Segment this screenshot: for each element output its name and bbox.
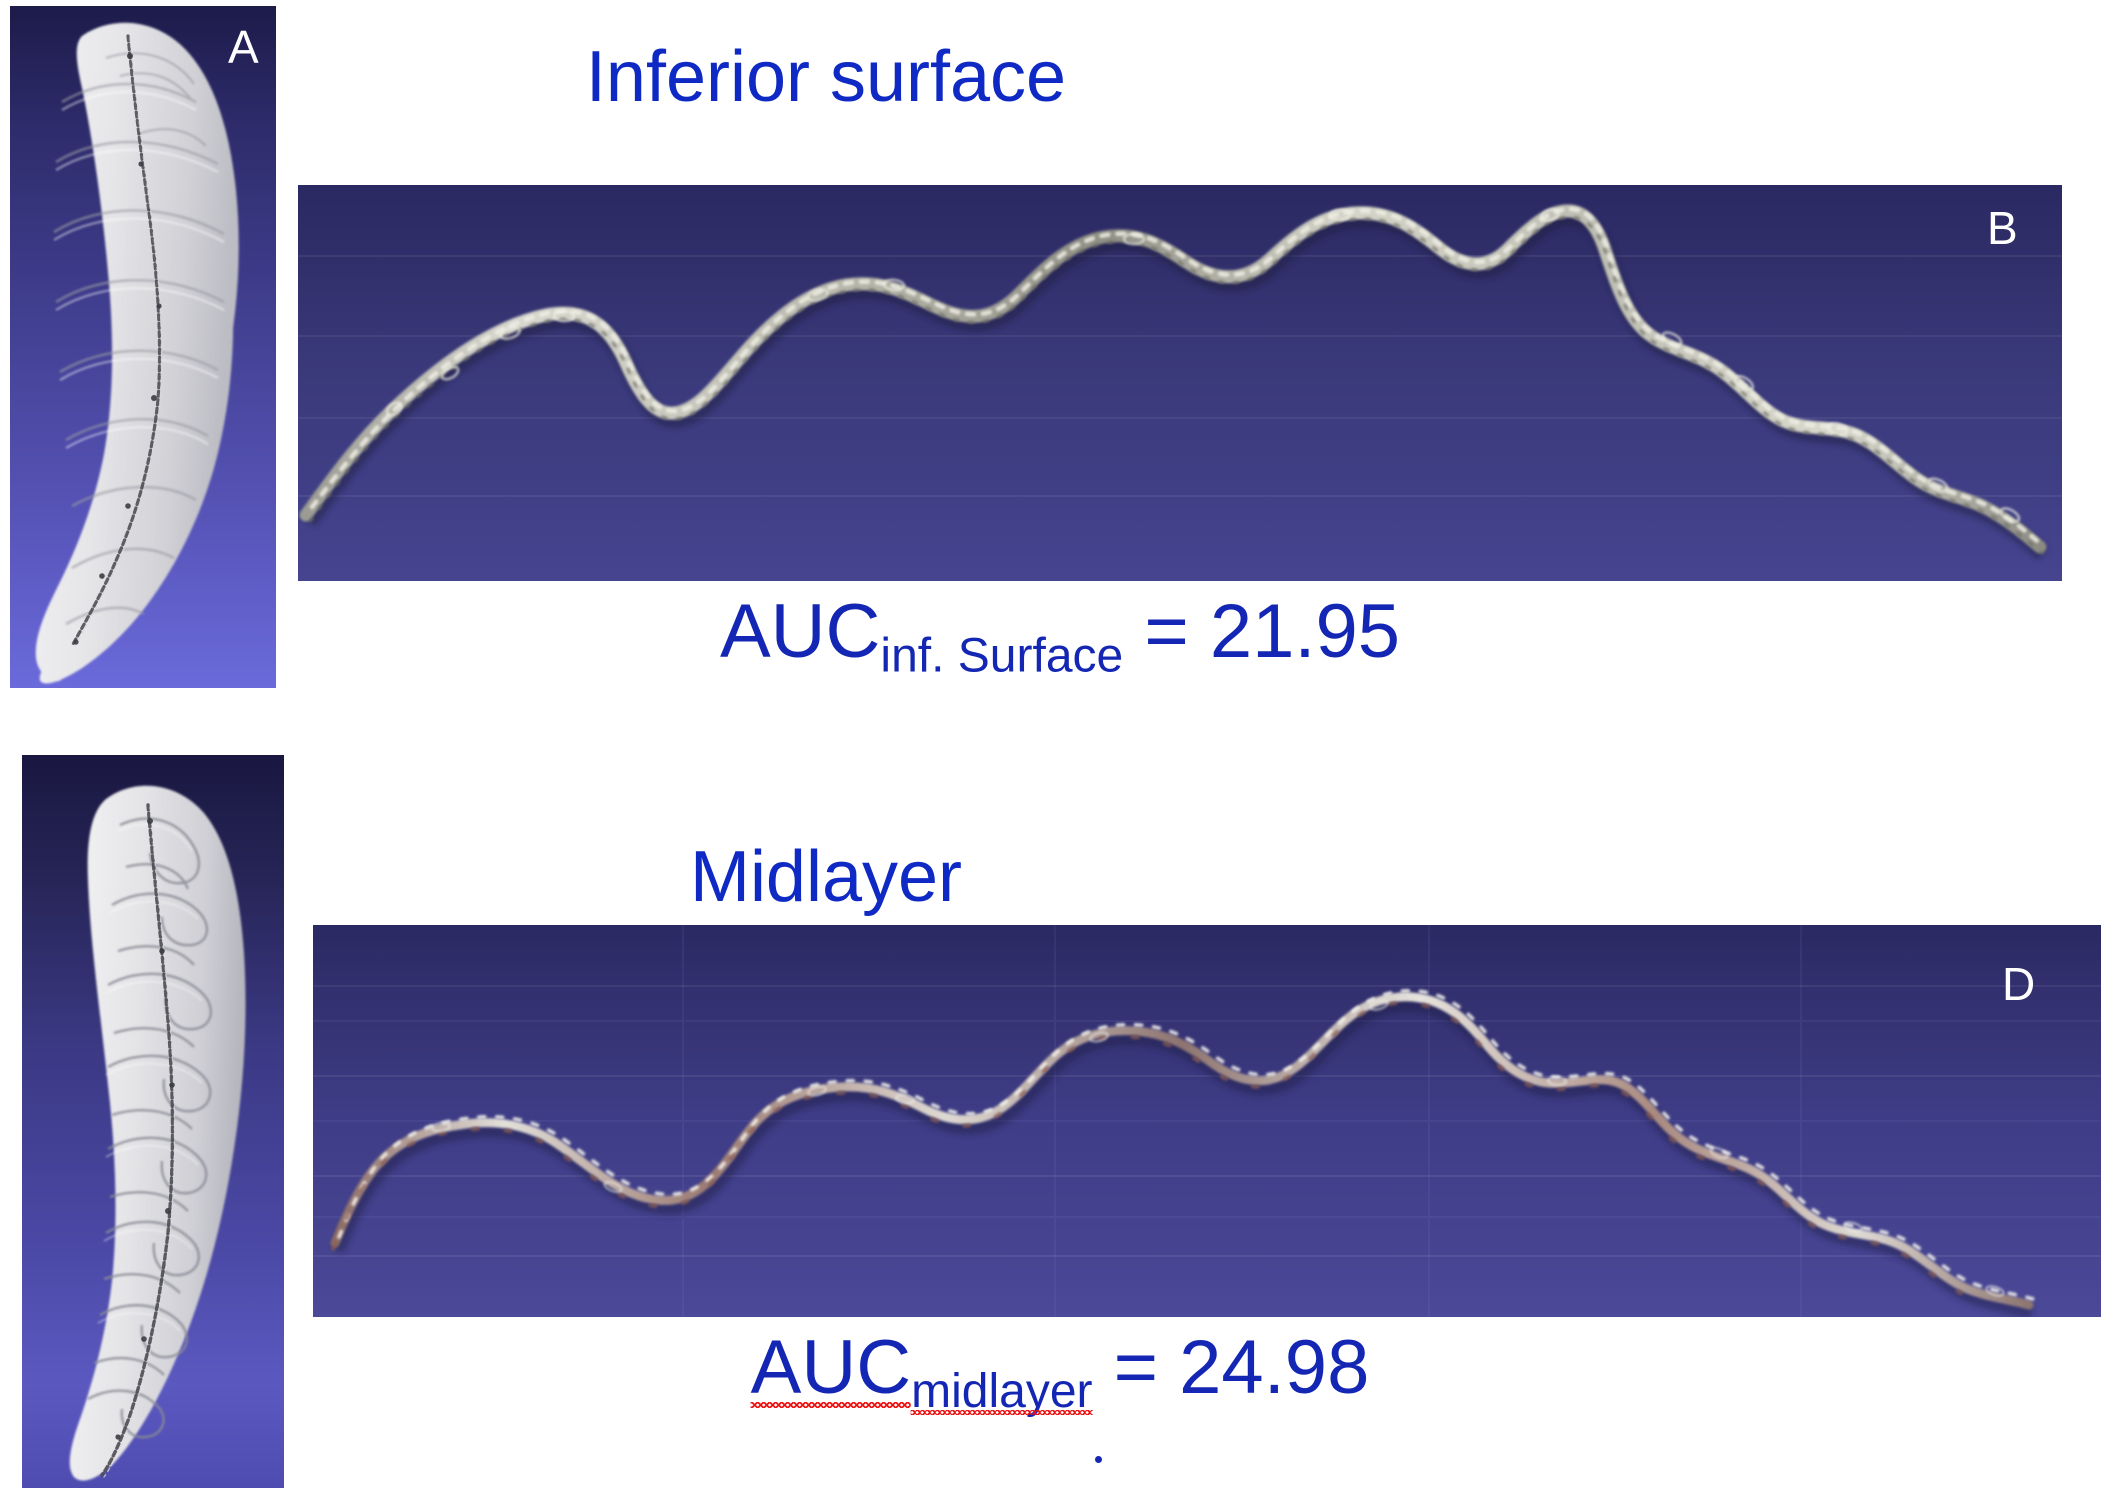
panel-letter-b: B	[1987, 205, 2018, 251]
panel-a-inferior-surface-render: A	[10, 6, 276, 688]
panel-d-midlayer-profile: D	[313, 925, 2101, 1317]
panel-c-midlayer-render: C	[22, 755, 284, 1488]
spellcheck-caret-dot	[1095, 1456, 1102, 1463]
panel-a-graphic	[10, 6, 276, 688]
auc-inferior-value: 21.95	[1210, 589, 1400, 674]
figure-root: A	[0, 0, 2112, 1490]
auc-inferior-subscript: inf. Surface	[880, 629, 1123, 682]
panel-b-graphic	[298, 185, 2062, 581]
panel-c-graphic	[22, 755, 284, 1488]
auc-inferior-base: AUC	[720, 589, 880, 674]
panel-b-inferior-surface-profile: B	[298, 185, 2062, 581]
panel-d-graphic	[313, 925, 2101, 1317]
heading-midlayer: Midlayer	[690, 841, 962, 913]
panel-letter-a: A	[228, 24, 259, 70]
auc-midlayer-equals: =	[1114, 1325, 1158, 1410]
auc-midlayer-base: AUC	[751, 1330, 911, 1406]
panel-letter-d: D	[2002, 961, 2036, 1007]
auc-midlayer-value: 24.98	[1179, 1325, 1369, 1410]
auc-inferior-equals: =	[1144, 589, 1188, 674]
heading-inferior-surface: Inferior surface	[586, 41, 1066, 113]
caption-auc-inferior: AUCinf. Surface = 21.95	[720, 594, 1400, 680]
caption-auc-midlayer: AUCmidlayer = 24.98	[751, 1330, 1370, 1416]
auc-midlayer-subscript: midlayer	[911, 1368, 1092, 1416]
